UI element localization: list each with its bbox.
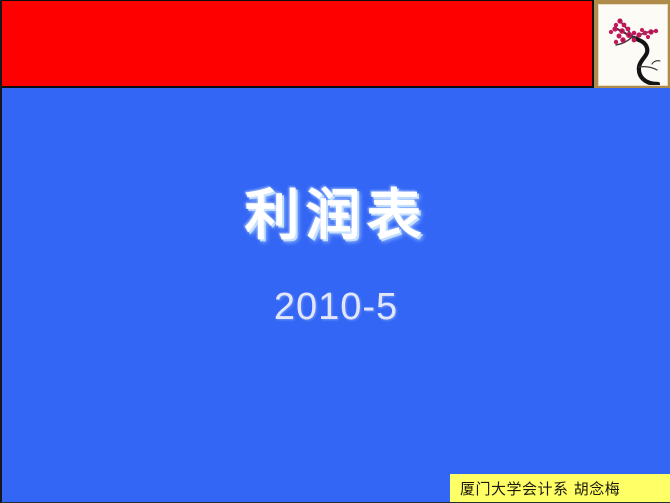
presentation-slide: 利润表 2010-5 厦门大学会计系 胡念梅 [0, 0, 670, 503]
banner-text [2, 1, 592, 2]
plum-blossom-picture-frame[interactable] [594, 0, 670, 90]
plum-blossom-icon [598, 4, 668, 86]
slide-body: 利润表 2010-5 [2, 88, 670, 502]
slide-subtitle-date[interactable]: 2010-5 [2, 283, 670, 331]
footer-affiliation-text: 厦门大学会计系 胡念梅 [460, 478, 620, 499]
footer-bar[interactable]: 厦门大学会计系 胡念梅 [450, 474, 670, 503]
slide-title[interactable]: 利润表 [2, 176, 670, 254]
top-red-banner[interactable] [2, 0, 594, 88]
